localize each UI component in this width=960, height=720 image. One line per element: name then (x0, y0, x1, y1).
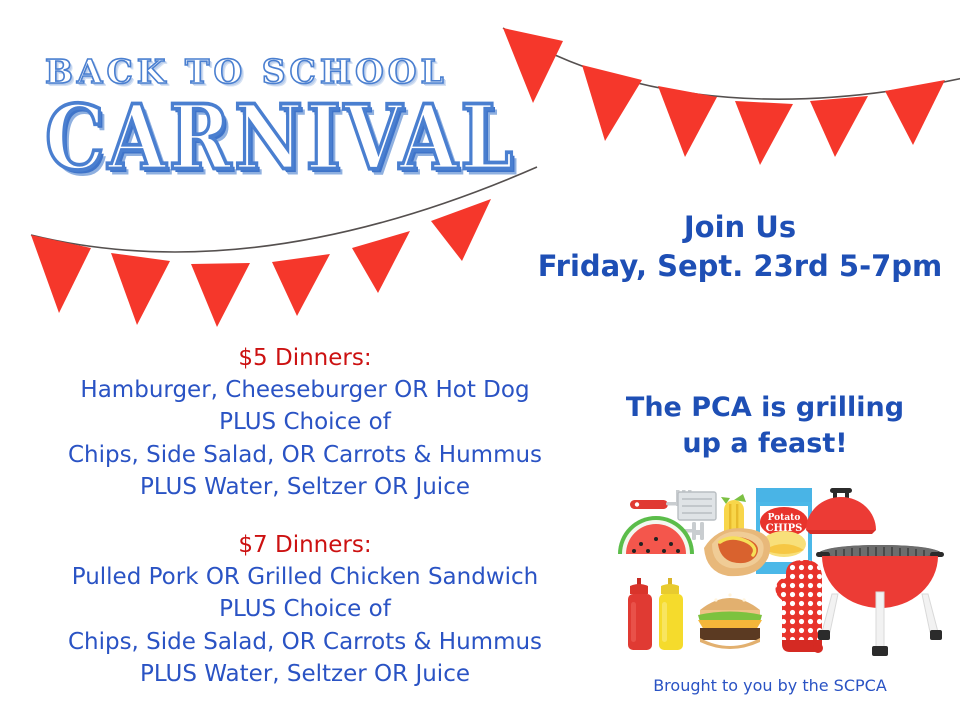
title-back-to-school: BACK TO SCHOOL (45, 55, 545, 88)
bunting-flag (352, 231, 410, 293)
join-us-line: Join Us (520, 208, 960, 247)
menu-line: PLUS Choice of (10, 406, 600, 438)
hamburger-icon (698, 593, 762, 649)
menu-line: Chips, Side Salad, OR Carrots & Hummus (10, 626, 600, 658)
join-us-block: Join Us Friday, Sept. 23rd 5-7pm (520, 208, 960, 285)
bunting-top (495, 18, 960, 168)
chips-bag-label-1: Potato (768, 513, 801, 523)
chips-bag-label-2: CHIPS (766, 523, 803, 534)
menu-heading-7-dollar: $7 Dinners: (10, 529, 600, 561)
menu-spacer (10, 503, 600, 529)
bbq-illustration: Potato CHIPS (608, 482, 954, 662)
ketchup-bottle-icon (628, 578, 652, 650)
pca-grilling-line-1: The PCA is grilling (590, 390, 940, 426)
bunting-flag (582, 65, 642, 141)
pca-grilling-block: The PCA is grilling up a feast! (590, 390, 940, 461)
event-datetime-line: Friday, Sept. 23rd 5-7pm (520, 247, 960, 286)
menu-line: Pulled Pork OR Grilled Chicken Sandwich (10, 561, 600, 593)
menu-line: PLUS Choice of (10, 593, 600, 625)
watermelon-slice-icon (618, 516, 694, 554)
credit-line: Brought to you by the SCPCA (600, 676, 940, 695)
mustard-bottle-icon (659, 578, 683, 650)
menu-line: PLUS Water, Seltzer OR Juice (10, 658, 600, 690)
bunting-flag (431, 199, 491, 261)
pca-grilling-line-2: up a feast! (590, 426, 940, 462)
bunting-flag (885, 80, 945, 145)
menu-heading-5-dollar: $5 Dinners: (10, 342, 600, 374)
menu-line: Hamburger, Cheeseburger OR Hot Dog (10, 374, 600, 406)
flyer-canvas: BACK TO SCHOOL CARNIVAL Join Us Friday, … (0, 0, 960, 720)
menu-line: Chips, Side Salad, OR Carrots & Hummus (10, 439, 600, 471)
bunting-flag (111, 253, 170, 325)
bunting-flag (735, 101, 793, 165)
menu-line: PLUS Water, Seltzer OR Juice (10, 471, 600, 503)
grill-lid-icon (806, 488, 876, 534)
flyer-title-block: BACK TO SCHOOL CARNIVAL (45, 55, 545, 171)
bunting-string-top (503, 28, 960, 99)
bunting-flag (191, 263, 250, 327)
bunting-flag (810, 96, 868, 157)
menu-block: $5 Dinners: Hamburger, Cheeseburger OR H… (10, 342, 600, 690)
bunting-flag (31, 235, 91, 313)
bunting-flag (272, 254, 330, 316)
title-carnival: CARNIVAL (45, 92, 545, 185)
bbq-spatula-icon (676, 490, 716, 520)
bunting-flag (658, 86, 717, 157)
grill-kettle-icon (816, 545, 944, 656)
